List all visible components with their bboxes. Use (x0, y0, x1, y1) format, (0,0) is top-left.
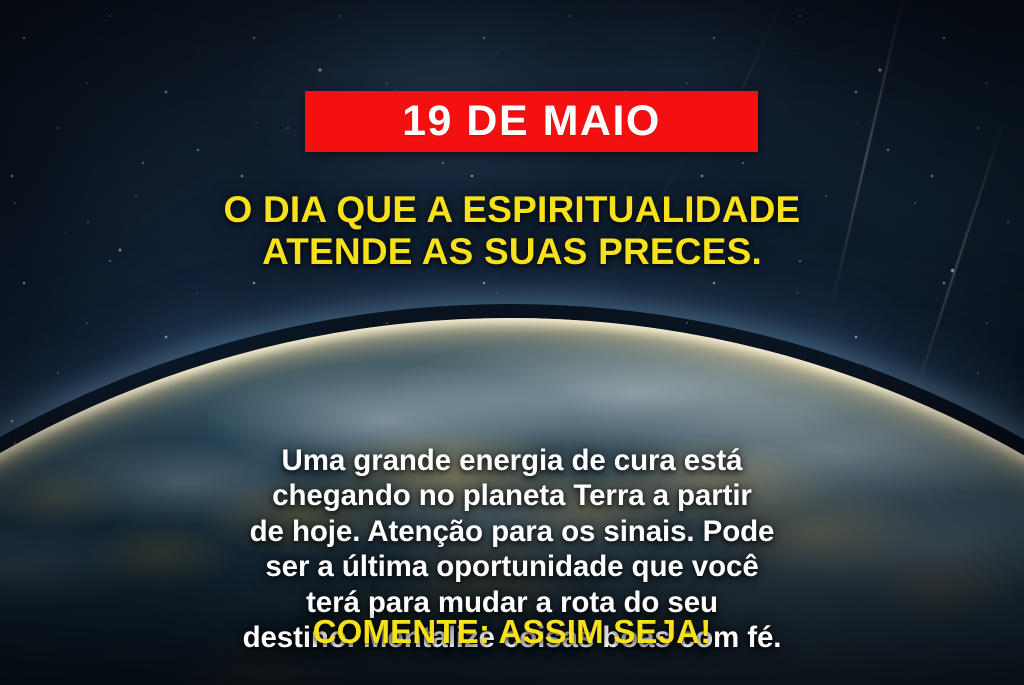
body-line-4: ser a última oportunidade que você (56, 549, 968, 584)
body-line-2: chegando no planeta Terra a partir (56, 478, 968, 513)
headline: O DIA QUE A ESPIRITUALIDADE ATENDE AS SU… (0, 189, 1024, 273)
body-line-3: de hoje. Atenção para os sinais. Pode (56, 514, 968, 549)
body-line-1: Uma grande energia de cura está (56, 443, 968, 478)
poster-canvas: 19 DE MAIO O DIA QUE A ESPIRITUALIDADE A… (0, 0, 1024, 685)
headline-line-2: ATENDE AS SUAS PRECES. (52, 231, 972, 273)
date-badge: 19 DE MAIO (305, 91, 758, 152)
date-badge-label: 19 DE MAIO (402, 100, 661, 143)
headline-line-1: O DIA QUE A ESPIRITUALIDADE (52, 189, 972, 231)
call-to-action-text: COMENTE: ASSIM SEJA! (0, 613, 1024, 651)
poster-content: 19 DE MAIO O DIA QUE A ESPIRITUALIDADE A… (0, 0, 1024, 685)
